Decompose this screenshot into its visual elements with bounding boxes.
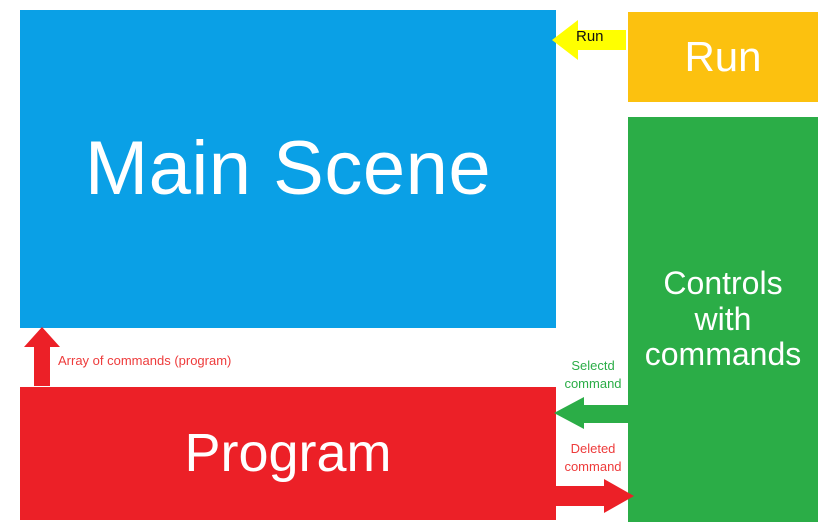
controls-label-line-3: commands — [645, 337, 802, 373]
run-block-label: Run — [684, 33, 761, 80]
main-scene-label: Main Scene — [85, 126, 491, 211]
deleted-command-arrow-right-icon — [556, 479, 634, 513]
deleted-command-label: Deleted command — [557, 440, 629, 477]
run-button-block[interactable]: Run — [628, 12, 818, 102]
selectd-command-label-line-2: command — [564, 376, 621, 391]
main-scene-block[interactable]: Main Scene — [20, 10, 556, 328]
controls-with-commands-block[interactable]: Controls with commands — [628, 117, 818, 522]
array-of-commands-arrow-up-icon — [24, 327, 60, 386]
selectd-command-arrow-left-icon — [554, 397, 632, 429]
controls-label-line-2: with — [695, 302, 752, 338]
array-of-commands-label: Array of commands (program) — [58, 353, 231, 368]
selectd-command-label-line-1: Selectd — [571, 358, 614, 373]
controls-label-line-1: Controls — [663, 266, 782, 302]
run-arrow-label: Run — [576, 28, 604, 45]
diagram-canvas: Main Scene Program Run Controls with com… — [0, 0, 828, 530]
deleted-command-label-line-1: Deleted — [571, 441, 616, 456]
program-label: Program — [184, 423, 391, 483]
program-block[interactable]: Program — [20, 387, 556, 520]
deleted-command-label-line-2: command — [564, 459, 621, 474]
selectd-command-label: Selectd command — [557, 357, 629, 394]
